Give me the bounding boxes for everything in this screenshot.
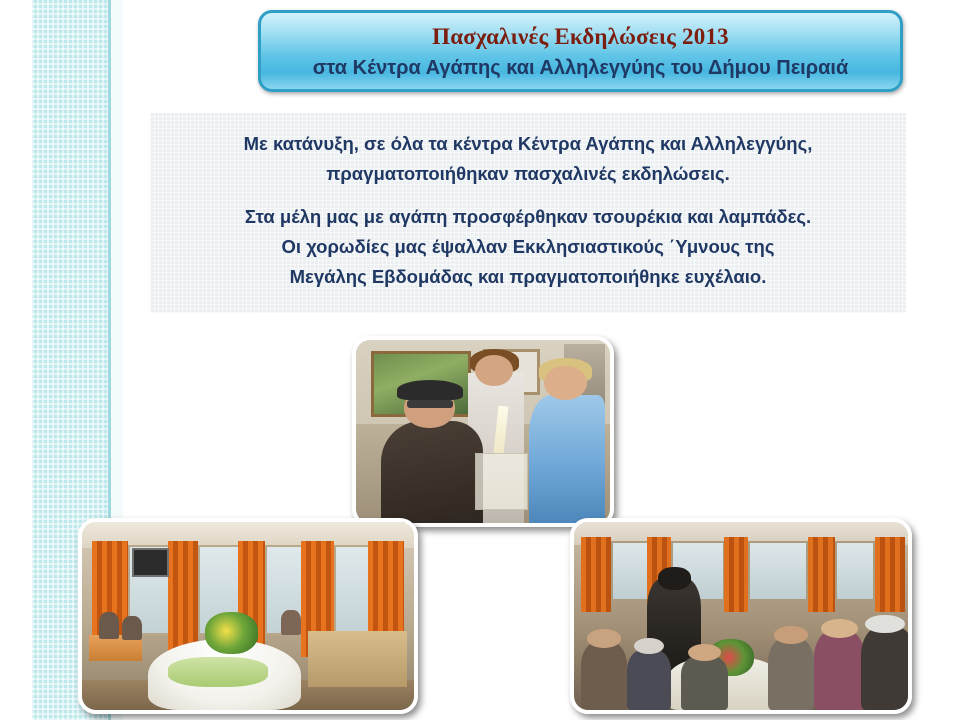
- scene3-attendee-body-2: [627, 650, 670, 710]
- scene3-priest-head: [658, 567, 691, 590]
- photo-bottom-left-image: [82, 522, 414, 710]
- scene1-woman-blue-coat: [529, 395, 605, 523]
- paragraph-spacer: [170, 189, 886, 202]
- photo-top-image: [356, 340, 610, 523]
- scene3-attendee-body-3: [681, 656, 728, 710]
- scene3-curtain-5: [875, 537, 905, 612]
- photo-top: Μέλη του κέντρου παραλαμβάνουν λαμπάδες: [352, 336, 614, 527]
- scene3-curtain-3: [724, 537, 747, 612]
- title-banner: Πασχαλινές Εκδηλώσεις 2013 στα Κέντρα Αγ…: [258, 10, 903, 92]
- scene2-table-runner: [168, 657, 268, 687]
- scene1-gift-bag: [475, 453, 528, 510]
- title-line-2: στα Κέντρα Αγάπης και Αλληλεγγύης του Δή…: [313, 55, 849, 81]
- scene3-curtain-4: [808, 537, 835, 612]
- scene2-television: [132, 548, 169, 576]
- photo-top-scene: [356, 340, 610, 523]
- scene3-attendee-body-5: [814, 631, 864, 710]
- scene3-window-3: [748, 541, 809, 601]
- body-line-2: πραγματοποιήθηκαν πασχαλινές εκδηλώσεις.: [170, 159, 886, 189]
- scene3-attendee-body-4: [768, 638, 815, 710]
- slide-canvas: Πασχαλινές Εκδηλώσεις 2013 στα Κέντρα Αγ…: [0, 0, 960, 720]
- scene2-person-1: [99, 612, 119, 638]
- scene2-person-3: [281, 610, 301, 634]
- scene3-attendee-head-2: [634, 638, 664, 655]
- scene3-attendee-body-6: [861, 627, 908, 710]
- body-line-3: Στα μέλη μας με αγάπη προσφέρθηκαν τσουρ…: [170, 202, 886, 232]
- scene1-man-glasses: [407, 400, 453, 407]
- photo-bottom-left: Στρωμένο τραπέζι σε αίθουσα με πορτοκαλί…: [78, 518, 418, 714]
- scene2-person-2: [122, 616, 142, 640]
- scene3-attendee-head-1: [587, 629, 620, 648]
- body-text-box: Με κατάνυξη, σε όλα τα κέντρα Κέντρα Αγά…: [150, 113, 906, 313]
- photo-bottom-left-scene: [82, 522, 414, 710]
- scene3-window-4: [835, 541, 876, 601]
- scene2-curtain-2: [168, 541, 198, 658]
- scene1-man-coat: [381, 421, 483, 523]
- scene3-window-1: [611, 541, 652, 601]
- photo-bottom-right-image: [574, 522, 908, 710]
- body-line-5: Μεγάλης Εβδομάδας και πραγματοποιήθηκε ε…: [170, 262, 886, 292]
- scene3-attendee-head-5: [821, 619, 858, 638]
- photo-bottom-right: Ιερέας και μέλη στην αίθουσα εκδήλωσης: [570, 518, 912, 714]
- left-margin-white: [0, 0, 32, 720]
- photo-bottom-right-scene: [574, 522, 908, 710]
- body-line-1: Με κατάνυξη, σε όλα τα κέντρα Κέντρα Αγά…: [170, 129, 886, 159]
- title-line-1: Πασχαλινές Εκδηλώσεις 2013: [432, 23, 729, 52]
- scene3-attendee-head-4: [774, 626, 807, 644]
- scene2-window-4: [334, 545, 371, 635]
- scene2-flower-arrangement: [205, 612, 258, 653]
- scene3-crowd: [574, 607, 908, 710]
- scene1-woman-back-head: [475, 355, 513, 386]
- scene3-attendee-body-1: [581, 642, 628, 710]
- body-line-4: Οι χορωδίες μας έψαλλαν Εκκλησιαστικούς …: [170, 232, 886, 262]
- scene2-buffet-table: [308, 631, 408, 687]
- scene3-curtain-1: [581, 537, 611, 612]
- scene1-man-hat: [397, 380, 463, 400]
